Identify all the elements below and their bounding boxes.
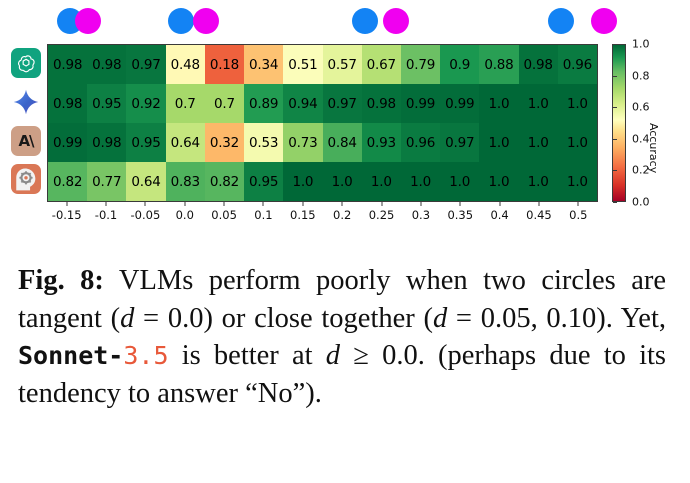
heatmap-cell: 0.84 xyxy=(323,123,362,162)
heatmap-cell: 1.0 xyxy=(323,162,362,201)
x-axis: -0.15-0.1-0.050.00.050.10.150.20.250.30.… xyxy=(47,202,598,232)
x-tick-mark xyxy=(538,202,539,206)
colorbar-tick-mark xyxy=(613,107,617,108)
x-tick-label: 0.0 xyxy=(176,208,194,222)
heatmap-cell: 0.96 xyxy=(558,45,597,84)
x-tick-mark xyxy=(302,202,303,206)
heatmap-cell: 1.0 xyxy=(558,84,597,123)
gemini-icon xyxy=(11,87,41,117)
colorbar-tick-mark xyxy=(613,44,617,45)
heatmap-cell: 1.0 xyxy=(519,162,558,201)
caption-part-2: is better at xyxy=(169,340,326,371)
heatmap-cell: 0.99 xyxy=(401,84,440,123)
circle-blue xyxy=(168,8,194,34)
heatmap-cell: 0.64 xyxy=(126,162,165,201)
x-tick-mark xyxy=(224,202,225,206)
caption-var-d-2: d xyxy=(433,303,447,334)
heatmap-cell: 0.83 xyxy=(166,162,205,201)
heatmap-cell: 1.0 xyxy=(479,123,518,162)
colorbar-tick-mark xyxy=(613,139,617,140)
heatmap-cell: 1.0 xyxy=(440,162,479,201)
heatmap-cell: 0.99 xyxy=(440,84,479,123)
heatmap-cell: 0.79 xyxy=(401,45,440,84)
x-tick-label: 0.2 xyxy=(333,208,351,222)
heatmap-cell: 0.98 xyxy=(48,45,87,84)
heatmap-cell: 0.77 xyxy=(87,162,126,201)
heatmap-cell: 0.99 xyxy=(48,123,87,162)
circle-blue xyxy=(548,8,574,34)
x-tick-mark xyxy=(420,202,421,206)
x-tick-mark xyxy=(342,202,343,206)
x-tick-mark xyxy=(499,202,500,206)
heatmap-cell: 0.96 xyxy=(401,123,440,162)
colorbar-title: Accuracy xyxy=(647,123,660,173)
caption-figure-number: Fig. 8: xyxy=(18,265,104,296)
circle-blue xyxy=(352,8,378,34)
heatmap-grid: 0.980.980.970.480.180.340.510.570.670.79… xyxy=(47,44,598,202)
reasoning-model-icon xyxy=(11,164,41,194)
x-tick-mark xyxy=(263,202,264,206)
colorbar-tick-mark xyxy=(613,202,617,203)
heatmap-cell: 0.88 xyxy=(479,45,518,84)
heatmap-cell: 1.0 xyxy=(283,162,322,201)
x-tick-mark xyxy=(381,202,382,206)
heatmap-cell: 1.0 xyxy=(519,84,558,123)
x-tick-label: 0.25 xyxy=(369,208,395,222)
circle-pair-illustrations xyxy=(0,0,690,40)
heatmap-cell: 0.92 xyxy=(126,84,165,123)
heatmap-cell: 0.53 xyxy=(244,123,283,162)
figure-caption: Fig. 8: VLMs perform poorly when two cir… xyxy=(18,262,666,412)
heatmap-cell: 1.0 xyxy=(558,162,597,201)
heatmap-cell: 1.0 xyxy=(479,162,518,201)
x-tick-label: 0.35 xyxy=(447,208,473,222)
x-tick-mark xyxy=(66,202,67,206)
heatmap-cell: 0.82 xyxy=(205,162,244,201)
heatmap-cell: 0.98 xyxy=(519,45,558,84)
circle-pair-tangent xyxy=(168,8,219,34)
figure-heatmap: A\ 0.980.980.970.480.180 xyxy=(0,0,690,245)
heatmap-cell: 0.97 xyxy=(323,84,362,123)
x-tick-mark xyxy=(145,202,146,206)
heatmap-cell: 0.57 xyxy=(323,45,362,84)
heatmap-cell: 1.0 xyxy=(362,162,401,201)
caption-model-name: Sonnet- xyxy=(18,341,123,370)
heatmap-cell: 0.18 xyxy=(205,45,244,84)
heatmap-cell: 0.98 xyxy=(362,84,401,123)
x-tick-mark xyxy=(184,202,185,206)
colorbar-gradient xyxy=(612,44,626,202)
heatmap-cell: 0.93 xyxy=(362,123,401,162)
heatmap-cell: 0.95 xyxy=(126,123,165,162)
heatmap-cell: 0.7 xyxy=(166,84,205,123)
model-icon-column: A\ xyxy=(9,44,45,202)
heatmap-cell: 0.95 xyxy=(87,84,126,123)
x-tick-label: 0.3 xyxy=(412,208,430,222)
heatmap-cell: 0.9 xyxy=(440,45,479,84)
heatmap-cell: 1.0 xyxy=(479,84,518,123)
heatmap-cell: 0.89 xyxy=(244,84,283,123)
heatmap-cell: 0.51 xyxy=(283,45,322,84)
heatmap-cell: 1.0 xyxy=(519,123,558,162)
colorbar-tick-label: 0.6 xyxy=(632,101,650,114)
circle-pair-far xyxy=(548,8,617,34)
x-tick-mark xyxy=(106,202,107,206)
openai-gpt-icon xyxy=(11,48,41,78)
circle-magenta xyxy=(193,8,219,34)
x-tick-label: -0.1 xyxy=(95,208,117,222)
heatmap-cell: 0.98 xyxy=(48,84,87,123)
heatmap-cell: 0.32 xyxy=(205,123,244,162)
anthropic-claude-icon: A\ xyxy=(11,126,41,156)
colorbar-tick-mark xyxy=(613,76,617,77)
circle-pair-overlapping xyxy=(57,8,101,34)
caption-eq-2: = 0.05, 0.10). Yet, xyxy=(447,303,666,334)
circle-magenta xyxy=(75,8,101,34)
colorbar-tick-mark xyxy=(613,170,617,171)
x-tick-label: -0.05 xyxy=(131,208,161,222)
heatmap-cell: 0.73 xyxy=(283,123,322,162)
heatmap-cell: 0.34 xyxy=(244,45,283,84)
caption-eq-1: = 0.0) or close together ( xyxy=(134,303,433,334)
circle-pair-near xyxy=(352,8,409,34)
colorbar-tick-label: 1.0 xyxy=(632,38,650,51)
colorbar-tick-label: 0.8 xyxy=(632,69,650,82)
x-tick-label: 0.1 xyxy=(254,208,272,222)
circle-magenta xyxy=(591,8,617,34)
x-tick-mark xyxy=(460,202,461,206)
heatmap-cell: 0.97 xyxy=(126,45,165,84)
heatmap-cell: 0.98 xyxy=(87,45,126,84)
heatmap-cell: 0.67 xyxy=(362,45,401,84)
x-tick-label: 0.05 xyxy=(211,208,237,222)
heatmap-cell: 0.94 xyxy=(283,84,322,123)
x-tick-label: 0.15 xyxy=(290,208,316,222)
x-tick-label: 0.5 xyxy=(569,208,587,222)
caption-var-d-1: d xyxy=(120,303,134,334)
heatmap-cell: 0.7 xyxy=(205,84,244,123)
x-tick-label: 0.45 xyxy=(526,208,552,222)
heatmap-cell: 1.0 xyxy=(558,123,597,162)
heatmap-cell: 0.95 xyxy=(244,162,283,201)
circle-magenta xyxy=(383,8,409,34)
heatmap-cell: 0.48 xyxy=(166,45,205,84)
colorbar-tick-label: 0.0 xyxy=(632,196,650,209)
caption-var-d-3: d xyxy=(326,340,340,371)
caption-model-version: 3.5 xyxy=(123,341,168,370)
x-tick-label: 0.4 xyxy=(490,208,508,222)
heatmap-plot-area: 0.980.980.970.480.180.340.510.570.670.79… xyxy=(47,44,598,202)
heatmap-cell: 0.82 xyxy=(48,162,87,201)
heatmap-cell: 0.98 xyxy=(87,123,126,162)
heatmap-cell: 0.97 xyxy=(440,123,479,162)
heatmap-cell: 1.0 xyxy=(401,162,440,201)
x-tick-mark xyxy=(578,202,579,206)
heatmap-cell: 0.64 xyxy=(166,123,205,162)
x-tick-label: -0.15 xyxy=(52,208,82,222)
